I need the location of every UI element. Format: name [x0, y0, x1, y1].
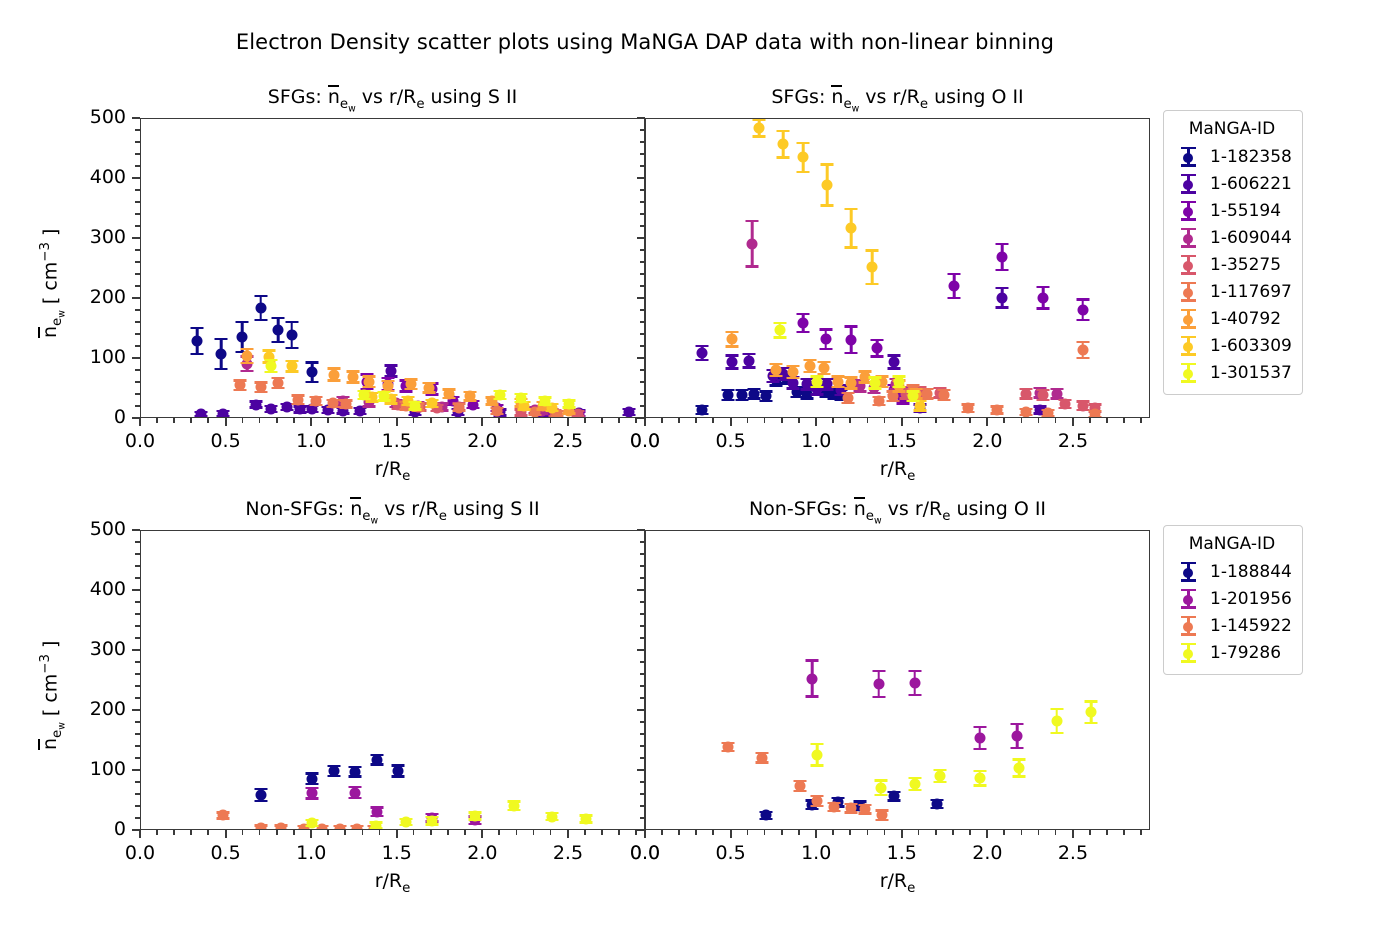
- x-axis-label: r/Re: [645, 458, 1150, 484]
- legend-item-1-301537[interactable]: 1-301537: [1172, 359, 1292, 386]
- error-bar-cap: [271, 341, 284, 344]
- x-minor-tick: [832, 830, 834, 835]
- data-point: [406, 379, 417, 390]
- y-minor-tick: [640, 601, 645, 603]
- data-point: [192, 336, 203, 347]
- legend-label: 1-55194: [1202, 201, 1281, 221]
- x-minor-tick: [498, 830, 500, 835]
- x-tick: [730, 418, 732, 426]
- y-minor-tick: [640, 381, 645, 383]
- error-bar-cap: [797, 142, 810, 145]
- x-tick-label: 0.0: [615, 842, 675, 864]
- x-minor-tick: [678, 830, 680, 835]
- error-bar-cap: [1011, 723, 1024, 726]
- error-bar-cap: [1011, 747, 1024, 750]
- error-bar-cap: [752, 135, 765, 138]
- data-point: [807, 673, 818, 684]
- x-minor-tick: [584, 830, 586, 835]
- y-minor-tick: [135, 141, 140, 143]
- error-bar-cap: [845, 208, 858, 211]
- y-minor-tick: [135, 225, 140, 227]
- data-point: [341, 399, 352, 410]
- x-tick-label: 2.5: [538, 842, 598, 864]
- data-point: [266, 403, 277, 414]
- legend-item-1-603309[interactable]: 1-603309: [1172, 332, 1292, 359]
- data-point: [392, 766, 403, 777]
- y-minor-tick: [135, 129, 140, 131]
- y-minor-tick: [135, 321, 140, 323]
- data-point: [372, 806, 383, 817]
- error-bar-cap: [948, 297, 961, 300]
- data-point: [358, 390, 369, 401]
- data-point: [1089, 409, 1100, 417]
- y-minor-tick: [640, 321, 645, 323]
- data-point: [1038, 390, 1049, 401]
- data-point: [423, 382, 434, 393]
- y-minor-tick: [135, 213, 140, 215]
- legend-label: 1-603309: [1202, 336, 1292, 356]
- y-tick: [637, 297, 645, 299]
- x-minor-tick: [1106, 418, 1108, 423]
- error-bar-cap: [725, 367, 738, 370]
- y-tick: [132, 649, 140, 651]
- legend-top[interactable]: MaNGA-ID1-1823581-6062211-551941-6090441…: [1163, 110, 1303, 395]
- data-point: [329, 369, 340, 380]
- data-point: [266, 361, 277, 372]
- error-bar-cap: [285, 321, 298, 324]
- data-point: [697, 405, 708, 416]
- legend-item-1-609044[interactable]: 1-609044: [1172, 224, 1292, 251]
- data-point: [974, 733, 985, 744]
- data-point: [872, 343, 883, 354]
- y-minor-tick: [640, 333, 645, 335]
- y-tick: [132, 709, 140, 711]
- x-minor-tick: [712, 830, 714, 835]
- legend-marker-icon: [1172, 227, 1202, 249]
- legend-item-1-201956[interactable]: 1-201956: [1172, 585, 1292, 612]
- legend-item-1-40792[interactable]: 1-40792: [1172, 305, 1292, 332]
- data-point: [334, 823, 345, 829]
- x-minor-tick: [550, 418, 552, 423]
- x-tick: [310, 830, 312, 838]
- y-tick: [132, 769, 140, 771]
- y-minor-tick: [640, 393, 645, 395]
- y-minor-tick: [640, 577, 645, 579]
- y-minor-tick: [640, 345, 645, 347]
- data-point: [1038, 292, 1049, 303]
- plot-area-sfg-oii: [646, 119, 1149, 417]
- error-bar-cap: [845, 246, 858, 249]
- legend-marker-icon: [1172, 588, 1202, 610]
- error-bar-cap: [908, 694, 921, 697]
- y-minor-tick: [640, 697, 645, 699]
- data-point: [812, 376, 823, 387]
- y-minor-tick: [640, 793, 645, 795]
- x-minor-tick: [327, 830, 329, 835]
- legend-marker-icon: [1172, 146, 1202, 168]
- error-bar-cap: [819, 348, 832, 351]
- data-point: [812, 749, 823, 760]
- x-minor-tick: [1038, 830, 1040, 835]
- legend-marker-icon: [1172, 281, 1202, 303]
- data-point: [218, 810, 229, 821]
- x-tick: [310, 418, 312, 426]
- x-tick-label: 1.0: [786, 842, 846, 864]
- data-point: [723, 390, 734, 401]
- panel-title-sfg-oii: SFGs: new vs r/Re using O II: [645, 86, 1150, 114]
- error-bar-cap: [806, 659, 819, 662]
- y-minor-tick: [640, 733, 645, 735]
- y-minor-tick: [135, 637, 140, 639]
- x-minor-tick: [678, 418, 680, 423]
- data-point: [307, 818, 318, 829]
- x-tick: [567, 418, 569, 426]
- data-point: [743, 355, 754, 366]
- data-point: [351, 823, 362, 829]
- y-minor-tick: [640, 285, 645, 287]
- y-minor-tick: [640, 201, 645, 203]
- y-minor-tick: [640, 685, 645, 687]
- error-bar-cap: [888, 367, 901, 370]
- error-bar-cap: [821, 163, 834, 166]
- error-bar-cap: [973, 784, 986, 787]
- data-point: [581, 814, 592, 825]
- x-minor-tick: [413, 830, 415, 835]
- y-tick: [132, 177, 140, 179]
- y-minor-tick: [135, 285, 140, 287]
- legend-item-1-35275[interactable]: 1-35275: [1172, 251, 1292, 278]
- y-tick-label: 400: [0, 578, 126, 600]
- data-point: [822, 180, 833, 191]
- error-bar-cap: [254, 295, 267, 298]
- legend-label: 1-117697: [1202, 282, 1292, 302]
- y-tick: [132, 117, 140, 119]
- y-minor-tick: [640, 141, 645, 143]
- panel-title-nonsfg-sii: Non-SFGs: new vs r/Re using S II: [140, 498, 645, 526]
- x-tick-label: 1.5: [367, 430, 427, 452]
- y-tick-label: 500: [0, 106, 126, 128]
- data-point: [829, 802, 840, 813]
- y-minor-tick: [640, 661, 645, 663]
- y-tick: [637, 769, 645, 771]
- error-bar-cap: [752, 119, 765, 121]
- legend-label: 1-201956: [1202, 589, 1292, 609]
- y-tick: [637, 237, 645, 239]
- x-tick: [901, 418, 903, 426]
- error-bar-cap: [241, 370, 254, 373]
- x-tick: [730, 830, 732, 838]
- x-minor-tick: [969, 830, 971, 835]
- y-minor-tick: [135, 733, 140, 735]
- data-point: [774, 325, 785, 336]
- x-minor-tick: [207, 418, 209, 423]
- data-point: [873, 396, 884, 407]
- x-tick: [225, 830, 227, 838]
- y-tick: [132, 297, 140, 299]
- x-minor-tick: [764, 418, 766, 423]
- error-bar-cap: [811, 764, 824, 767]
- legend-marker-icon: [1172, 308, 1202, 330]
- data-point: [327, 398, 338, 409]
- data-point: [363, 376, 374, 387]
- y-minor-tick: [135, 273, 140, 275]
- error-bar-cap: [776, 130, 789, 133]
- data-point: [1077, 400, 1088, 411]
- x-minor-tick: [379, 830, 381, 835]
- data-point: [747, 238, 758, 249]
- x-minor-tick: [447, 830, 449, 835]
- error-bar-cap: [306, 361, 319, 364]
- y-minor-tick: [640, 153, 645, 155]
- error-bar-cap: [797, 313, 810, 316]
- data-point: [372, 754, 383, 765]
- error-bar-cap: [948, 273, 961, 276]
- x-tick-label: 1.0: [786, 430, 846, 452]
- x-tick: [986, 418, 988, 426]
- x-tick-label: 0.5: [701, 430, 761, 452]
- legend-bottom[interactable]: MaNGA-ID1-1888441-2019561-1459221-79286: [1163, 525, 1303, 675]
- data-point: [310, 396, 321, 407]
- x-axis-label: r/Re: [140, 870, 645, 896]
- data-point: [563, 399, 574, 410]
- y-minor-tick: [135, 805, 140, 807]
- y-minor-tick: [640, 261, 645, 263]
- error-bar-cap: [306, 381, 319, 384]
- data-point: [295, 404, 306, 415]
- x-minor-tick: [173, 830, 175, 835]
- legend-marker-icon: [1172, 561, 1202, 583]
- error-bar-cap: [821, 204, 834, 207]
- error-bar-cap: [973, 726, 986, 729]
- x-minor-tick: [276, 418, 278, 423]
- x-minor-tick: [601, 830, 603, 835]
- x-minor-tick: [952, 830, 954, 835]
- y-minor-tick: [640, 213, 645, 215]
- plot-panel-sfg-sii: [140, 118, 645, 418]
- error-bar-cap: [1085, 722, 1098, 725]
- data-point: [409, 400, 420, 411]
- y-minor-tick: [135, 565, 140, 567]
- x-tick: [644, 418, 646, 426]
- x-minor-tick: [293, 830, 295, 835]
- legend-title: MaNGA-ID: [1172, 119, 1292, 139]
- error-bar-cap: [1076, 341, 1089, 344]
- x-minor-tick: [533, 830, 535, 835]
- y-minor-tick: [135, 189, 140, 191]
- error-bar-cap: [1037, 307, 1050, 310]
- legend-item-1-145922[interactable]: 1-145922: [1172, 612, 1292, 639]
- x-minor-tick: [156, 830, 158, 835]
- data-point: [540, 396, 551, 407]
- legend-item-1-182358[interactable]: 1-182358: [1172, 143, 1292, 170]
- x-minor-tick: [712, 418, 714, 423]
- error-bar-cap: [872, 670, 885, 673]
- data-point: [812, 796, 823, 807]
- error-bar-cap: [819, 328, 832, 331]
- x-minor-tick: [173, 418, 175, 423]
- y-minor-tick: [135, 757, 140, 759]
- x-tick: [815, 830, 817, 838]
- data-point: [820, 334, 831, 345]
- data-point: [860, 804, 871, 815]
- data-point: [846, 378, 857, 389]
- data-point: [237, 331, 248, 342]
- data-point: [1086, 707, 1097, 718]
- error-bar-cap: [1085, 700, 1098, 703]
- y-minor-tick: [640, 625, 645, 627]
- data-point: [771, 364, 782, 375]
- data-point: [516, 393, 527, 404]
- x-minor-tick: [259, 830, 261, 835]
- y-minor-tick: [135, 673, 140, 675]
- data-point: [370, 820, 381, 829]
- x-minor-tick: [1089, 418, 1091, 423]
- y-minor-tick: [135, 817, 140, 819]
- error-bar-cap: [973, 748, 986, 751]
- plot-area-sfg-sii: [141, 119, 644, 417]
- x-minor-tick: [550, 830, 552, 835]
- error-bar-cap: [1037, 286, 1050, 289]
- data-point: [974, 773, 985, 784]
- error-bar-cap: [874, 794, 887, 797]
- error-bar-cap: [191, 327, 204, 330]
- x-tick-label: 2.0: [957, 430, 1017, 452]
- data-point: [949, 280, 960, 291]
- data-point: [726, 334, 737, 345]
- x-minor-tick: [1055, 418, 1057, 423]
- x-minor-tick: [884, 830, 886, 835]
- data-point: [509, 800, 520, 811]
- y-minor-tick: [640, 225, 645, 227]
- x-minor-tick: [849, 830, 851, 835]
- x-tick: [815, 418, 817, 426]
- data-point: [932, 799, 943, 810]
- x-minor-tick: [190, 418, 192, 423]
- x-tick-label: 1.5: [872, 430, 932, 452]
- y-minor-tick: [135, 249, 140, 251]
- x-minor-tick: [601, 418, 603, 423]
- data-point: [798, 152, 809, 163]
- x-minor-tick: [516, 830, 518, 835]
- x-minor-tick: [293, 418, 295, 423]
- x-minor-tick: [190, 830, 192, 835]
- data-point: [760, 391, 771, 402]
- error-bar-cap: [254, 319, 267, 322]
- x-axis-label: r/Re: [645, 870, 1150, 896]
- legend-label: 1-79286: [1202, 643, 1281, 663]
- data-point: [349, 766, 360, 777]
- y-axis-label: new [ cm−3 ]: [38, 641, 68, 750]
- x-minor-tick: [362, 418, 364, 423]
- y-minor-tick: [135, 721, 140, 723]
- data-point: [997, 292, 1008, 303]
- y-minor-tick: [135, 261, 140, 263]
- data-point: [329, 766, 340, 777]
- x-tick-label: 0.0: [110, 842, 170, 864]
- y-minor-tick: [640, 129, 645, 131]
- x-minor-tick: [1055, 830, 1057, 835]
- y-minor-tick: [640, 541, 645, 543]
- legend-label: 1-145922: [1202, 616, 1292, 636]
- plot-area-nonsfg-sii: [141, 531, 644, 829]
- data-point: [218, 408, 229, 417]
- y-minor-tick: [135, 685, 140, 687]
- x-tick: [986, 830, 988, 838]
- data-point: [464, 391, 475, 402]
- x-tick: [1072, 830, 1074, 838]
- y-tick: [637, 649, 645, 651]
- y-minor-tick: [640, 745, 645, 747]
- x-minor-tick: [1021, 418, 1023, 423]
- error-bar-cap: [191, 353, 204, 356]
- x-minor-tick: [242, 830, 244, 835]
- x-minor-tick: [498, 418, 500, 423]
- error-bar-cap: [996, 269, 1009, 272]
- y-tick-label: 400: [0, 166, 126, 188]
- error-bar-cap: [746, 265, 759, 268]
- x-tick: [481, 830, 483, 838]
- x-minor-tick: [1123, 830, 1125, 835]
- error-bar-cap: [865, 249, 878, 252]
- data-point: [909, 779, 920, 790]
- y-minor-tick: [135, 165, 140, 167]
- data-point: [195, 409, 206, 417]
- y-minor-tick: [640, 781, 645, 783]
- legend-item-1-55194[interactable]: 1-55194: [1172, 197, 1292, 224]
- x-minor-tick: [798, 418, 800, 423]
- y-tick-label: 500: [0, 518, 126, 540]
- legend-item-1-188844[interactable]: 1-188844: [1172, 558, 1292, 585]
- legend-label: 1-188844: [1202, 562, 1292, 582]
- x-minor-tick: [849, 418, 851, 423]
- data-point: [546, 811, 557, 822]
- x-minor-tick: [533, 418, 535, 423]
- error-bar-cap: [872, 696, 885, 699]
- legend-item-1-79286[interactable]: 1-79286: [1172, 639, 1292, 666]
- x-axis-label: r/Re: [140, 458, 645, 484]
- x-minor-tick: [661, 418, 663, 423]
- error-bar-cap: [236, 321, 249, 324]
- x-minor-tick: [781, 830, 783, 835]
- data-point: [870, 378, 881, 389]
- data-point: [235, 380, 246, 391]
- x-tick: [139, 830, 141, 838]
- data-point: [819, 363, 830, 374]
- data-point: [1060, 399, 1071, 410]
- error-bar-cap: [845, 325, 858, 328]
- y-tick: [132, 529, 140, 531]
- x-minor-tick: [618, 418, 620, 423]
- error-bar-cap: [215, 368, 228, 371]
- y-minor-tick: [135, 745, 140, 747]
- data-point: [877, 810, 888, 821]
- y-minor-tick: [640, 637, 645, 639]
- data-point: [846, 223, 857, 234]
- x-tick-label: 1.5: [367, 842, 427, 864]
- x-minor-tick: [584, 418, 586, 423]
- data-point: [293, 394, 304, 405]
- error-bar-cap: [746, 220, 759, 223]
- legend-item-1-606221[interactable]: 1-606221: [1172, 170, 1292, 197]
- x-minor-tick: [413, 418, 415, 423]
- figure: Electron Density scatter plots using MaN…: [0, 0, 1400, 950]
- legend-label: 1-301537: [1202, 363, 1292, 383]
- legend-item-1-117697[interactable]: 1-117697: [1172, 278, 1292, 305]
- legend-title: MaNGA-ID: [1172, 534, 1292, 554]
- y-minor-tick: [135, 577, 140, 579]
- y-tick: [637, 357, 645, 359]
- data-point: [889, 357, 900, 368]
